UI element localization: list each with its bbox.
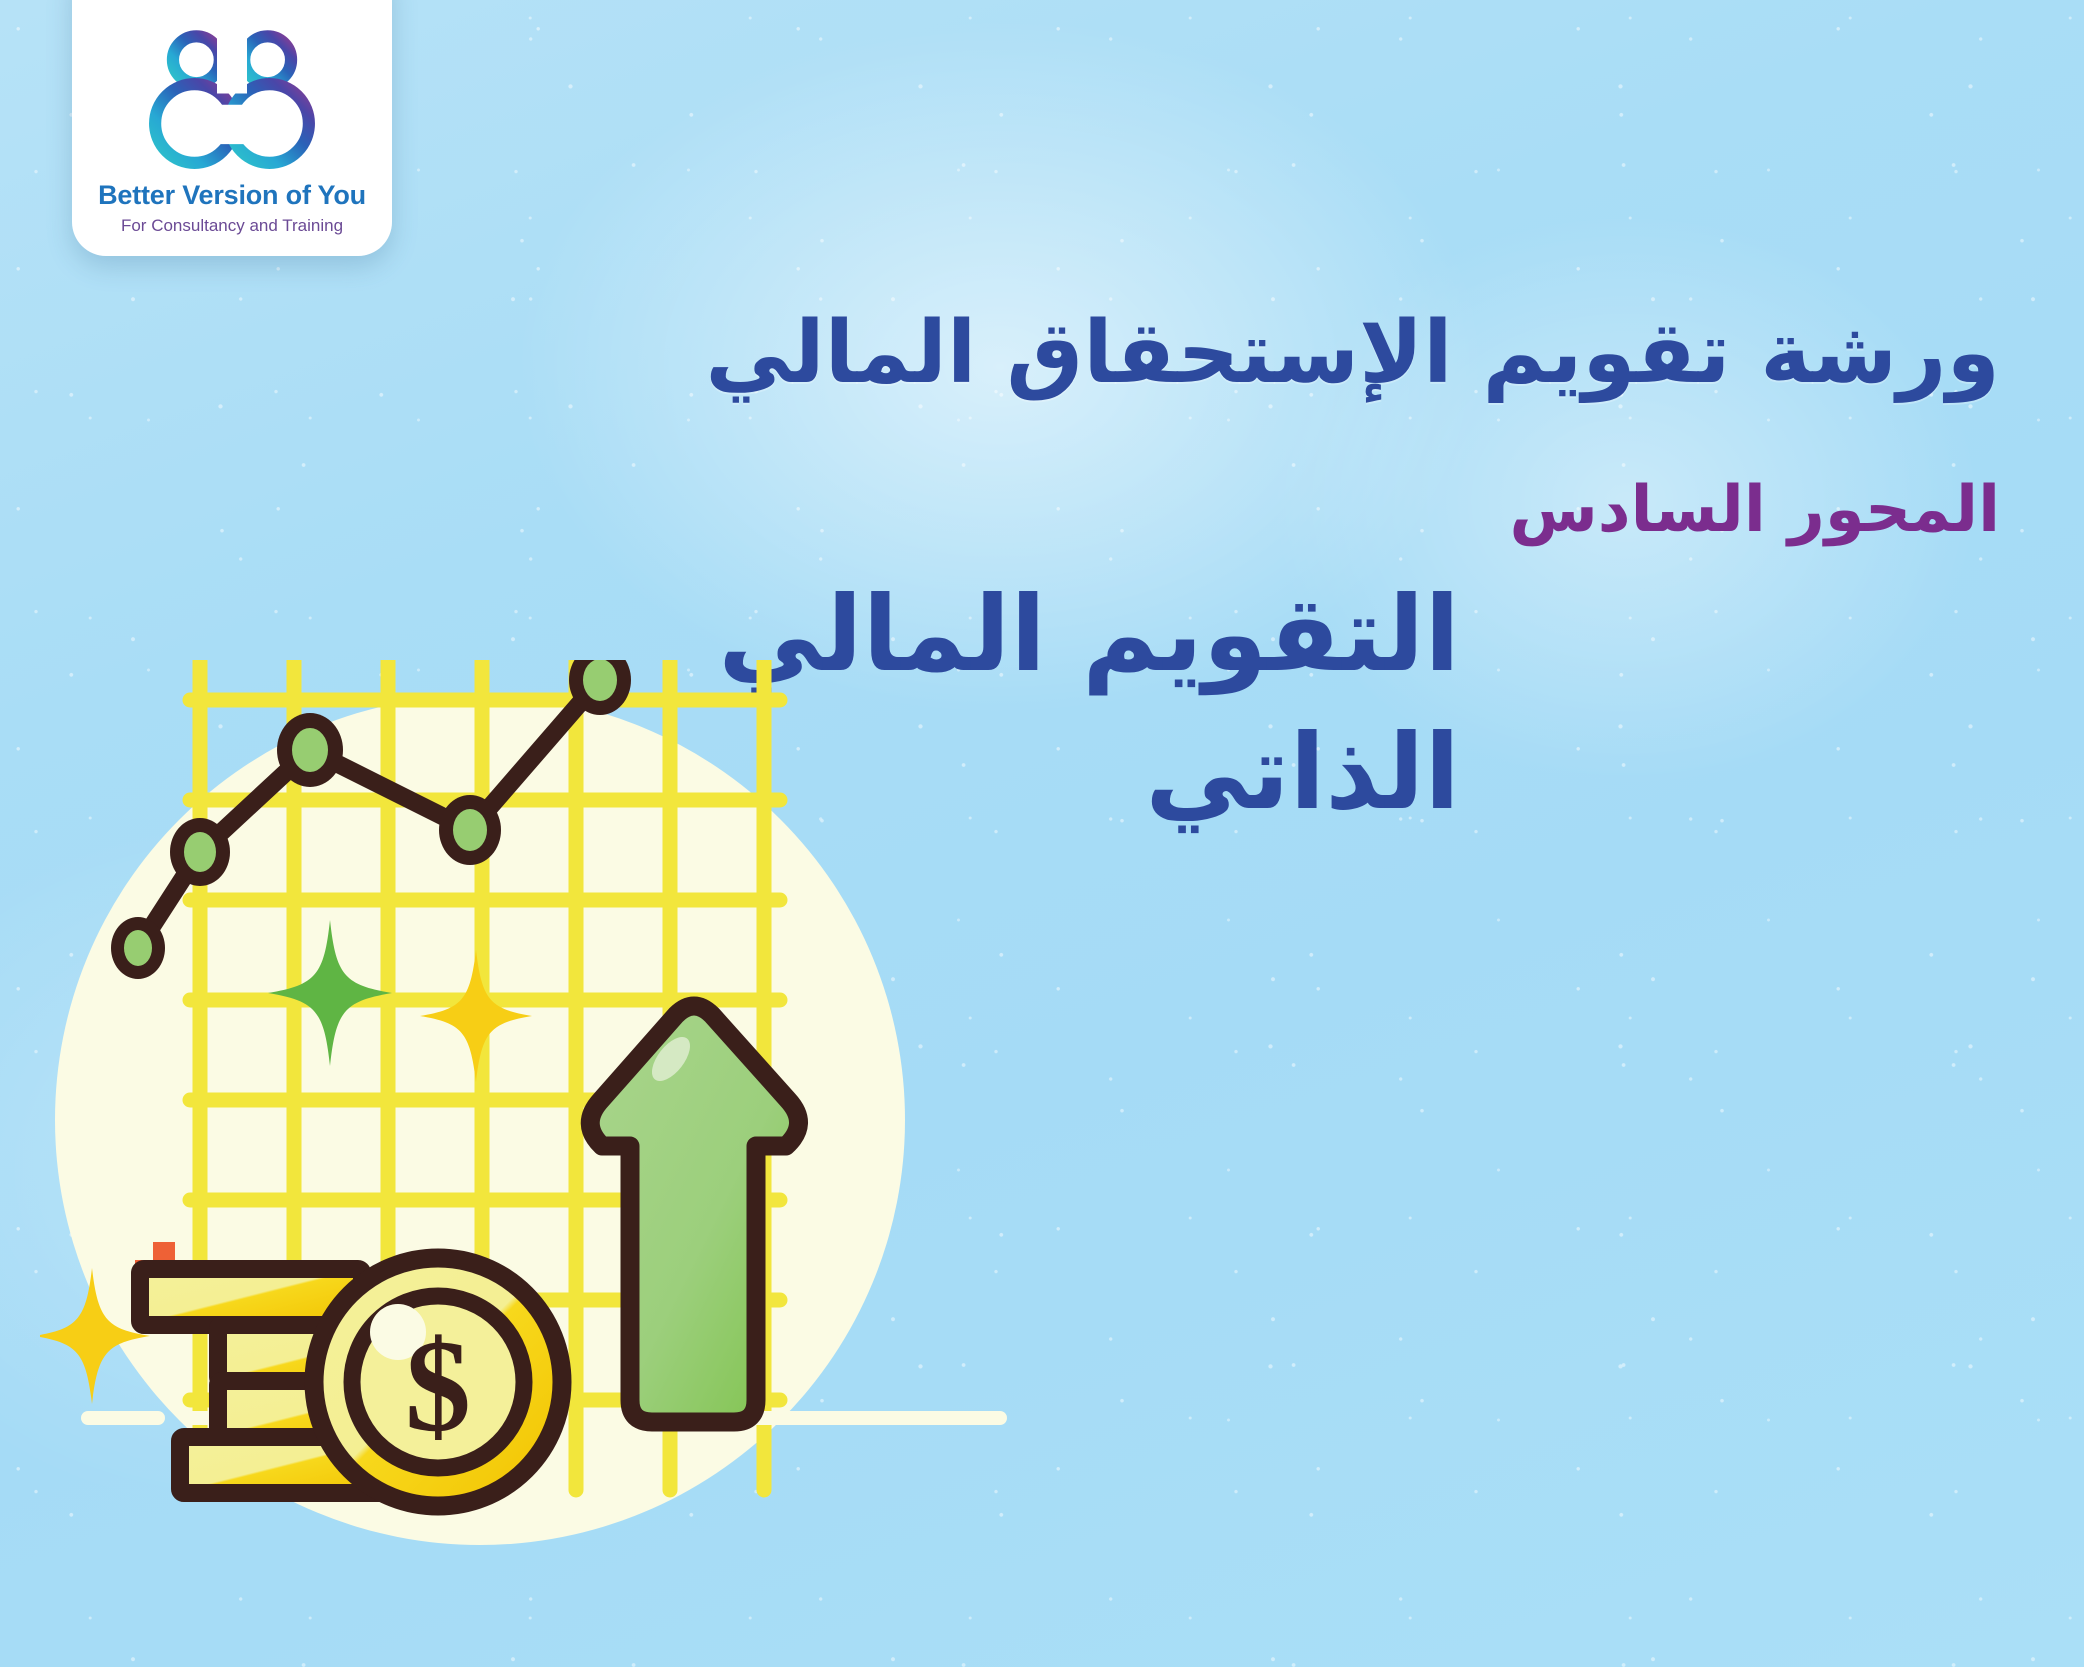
infinity-double-8-icon	[137, 26, 327, 176]
logo-brand-name: Better Version of You	[98, 182, 366, 209]
dollar-coin-icon: $	[314, 1258, 562, 1506]
workshop-title: ورشة تقويم الإستحقاق المالي	[700, 300, 2000, 408]
brand-logo-card[interactable]: Better Version of You For Consultancy an…	[72, 0, 392, 256]
logo-tagline: For Consultancy and Training	[121, 217, 343, 234]
axis-subtitle: المحور السادس	[700, 472, 2000, 549]
svg-text:$: $	[405, 1312, 471, 1459]
poster-canvas: Better Version of You For Consultancy an…	[0, 0, 2084, 1667]
financial-growth-illustration: $	[40, 660, 1050, 1667]
illustration-svg: $	[40, 660, 1050, 1667]
